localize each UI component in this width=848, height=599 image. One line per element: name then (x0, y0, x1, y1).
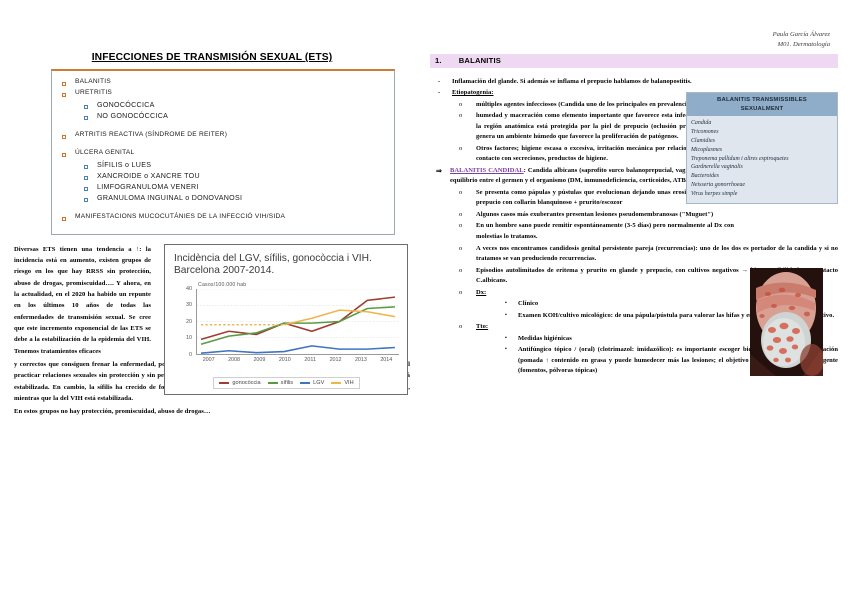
bullet-text: Etiopatogenia: (452, 88, 494, 99)
section-title: BALANITIS (459, 56, 501, 65)
x-tick-label: 2008 (221, 357, 246, 367)
slide-item-label: NO GONOCÓCCICA (97, 112, 168, 121)
slide-item: GONOCÓCCICA (58, 101, 388, 110)
square-bullet-icon (84, 116, 88, 120)
bullet-marker-icon: o (459, 288, 476, 298)
slide-item-label: LIMFOGRANULOMA VENERI (97, 183, 199, 192)
square-bullet-icon (84, 198, 88, 202)
bullet-marker-icon: o (459, 144, 476, 154)
slide-item-label: BALANITIS (75, 78, 111, 86)
chart-title: Incidència del LGV, sífilis, gonocòccia … (174, 253, 401, 278)
y-tick-label: 30 (186, 302, 192, 308)
bullet-marker-icon: ▪ (505, 311, 518, 319)
left-paragraph-last: En estos grupos no hay protección, promi… (14, 406, 410, 417)
table-row: Tricomones (691, 128, 833, 137)
author-name: Paula García Álvarez (430, 30, 830, 40)
y-tick-label: 10 (186, 335, 192, 341)
bullet-item: oAlgunos casos más exuberantes presentan… (430, 210, 838, 221)
course-name: M01. Dermatología (430, 40, 830, 50)
clinical-photo-balanitis (750, 268, 823, 376)
bullet-text: Dx: (476, 288, 486, 299)
slide-item: NO GONOCÓCCICA (58, 112, 388, 121)
legend-label: sífilis (281, 380, 293, 386)
bullet-text: Inflamación del glande. Si además se inf… (452, 77, 692, 88)
x-tick-label: 2009 (247, 357, 272, 367)
square-bullet-icon (84, 105, 88, 109)
x-tick-label: 2010 (272, 357, 297, 367)
bullet-text: A veces nos encontramos candidosis genit… (476, 244, 838, 265)
bullet-marker-icon: o (459, 322, 476, 332)
slide-item: ÚLCERA GENITAL (58, 149, 388, 157)
chart-series-LGV (201, 345, 395, 352)
square-bullet-icon (62, 135, 66, 139)
slide-item-label: ÚLCERA GENITAL (75, 149, 134, 157)
slide-item: XANCROIDE o XANCRE TOU (58, 172, 388, 181)
y-tick-label: 40 (186, 286, 192, 292)
table-title-line1: BALANITIS TRANSMISSIBLES (689, 96, 835, 105)
legend-item: LGV (300, 380, 324, 386)
legend-item: VIH (331, 380, 353, 386)
bullet-keyword: BALANITIS CANDIDAL (450, 167, 524, 174)
chart-plot-area: 010203040 200720082009201020112012201320… (172, 289, 401, 371)
square-bullet-icon (62, 93, 66, 97)
slide-item: BALANITIS (58, 78, 388, 86)
square-bullet-icon (62, 217, 66, 221)
legend-label: LGV (313, 380, 324, 386)
bullet-marker-icon: - (438, 77, 452, 88)
bullet-item: oEn un hombre sano puede remitir espontá… (430, 221, 838, 242)
slide-item-label: SÍFILIS o LUES (97, 161, 151, 170)
table-row: Virus herpes simple (691, 190, 833, 199)
chart-y-axis-label: Casos/100.000 hab (198, 282, 401, 288)
author-header: Paula García Álvarez M01. Dermatología (430, 30, 830, 50)
bullet-marker-icon: ▪ (505, 345, 518, 353)
y-tick-label: 20 (186, 319, 192, 325)
table-row: Bacteroides (691, 172, 833, 181)
left-text-and-chart: Incidència del LGV, sífilis, gonocòccia … (14, 244, 410, 418)
table-row: Gardnerella vaginalis (691, 163, 833, 172)
chart-legend: gonocòcciasífilisLGVVIH (213, 377, 359, 389)
square-bullet-icon (62, 82, 66, 86)
slide-item: MANIFESTACIONS MUCOCUTÁNIES DE LA INFECC… (58, 213, 388, 221)
bullet-marker-icon: o (459, 111, 476, 121)
bullet-text: Algunos casos más exuberantes presentan … (476, 210, 734, 221)
right-column: Paula García Álvarez M01. Dermatología 1… (424, 0, 848, 599)
bullet-text: En un hombre sano puede remitir espontán… (476, 221, 734, 242)
x-tick-label: 2014 (374, 357, 399, 367)
legend-swatch-icon (331, 382, 341, 384)
balanitis-table: BALANITIS TRANSMISSIBLES SEXUALMENT Cand… (686, 92, 838, 204)
chart-lines (196, 289, 399, 355)
legend-label: gonocòccia (232, 380, 260, 386)
slide-item-label: GONOCÓCCICA (97, 101, 155, 110)
chart-series-gonocòccia (201, 297, 395, 339)
table-row: Clamidies (691, 137, 833, 146)
left-column: INFECCIONES DE TRANSMISIÓN SEXUAL (ETS) … (0, 0, 424, 599)
legend-swatch-icon (300, 382, 310, 384)
square-bullet-icon (62, 153, 66, 157)
bullet-item: oA veces nos encontramos candidosis geni… (430, 244, 838, 265)
bullet-item: -Inflamación del glande. Si además se in… (430, 77, 838, 88)
bullet-marker-icon: o (459, 210, 476, 220)
legend-swatch-icon (268, 382, 278, 384)
bullet-marker-icon: - (438, 88, 452, 99)
page-title: INFECCIONES DE TRANSMISIÓN SEXUAL (ETS) (14, 52, 410, 63)
bullet-text: Clínico (518, 299, 538, 310)
square-bullet-icon (84, 165, 88, 169)
bullet-marker-icon: ▪ (505, 299, 518, 307)
square-bullet-icon (84, 187, 88, 191)
bullet-text: Tto: (476, 322, 488, 333)
bullet-marker-icon: ▪ (505, 334, 518, 342)
bullet-marker-icon: o (459, 221, 476, 231)
bullet-marker-icon: o (459, 266, 476, 276)
slide-item: URETRITIS (58, 89, 388, 97)
legend-item: sífilis (268, 380, 293, 386)
balanitis-table-body: CandidaTricomonesClamidiesMicoplasmesTre… (687, 116, 837, 203)
table-row: Treponema pallidum i altres espiroquetes (691, 155, 833, 164)
slide-item-label: GRANULOMA INGUINAL o DONOVANOSI (97, 194, 242, 203)
x-tick-label: 2007 (196, 357, 221, 367)
table-row: Candida (691, 119, 833, 128)
section-number: 1. (435, 56, 442, 65)
bullet-marker-icon: o (459, 244, 476, 254)
slide-item-label: ARTRITIS REACTIVA (SÍNDROME DE REITER) (75, 131, 227, 139)
bullet-text: Medidas higiénicas (518, 334, 572, 345)
table-row: Neisseria gonorrhoeae (691, 181, 833, 190)
slide-item: ARTRITIS REACTIVA (SÍNDROME DE REITER) (58, 131, 388, 139)
legend-swatch-icon (219, 382, 229, 384)
bullet-marker-icon: o (459, 188, 476, 198)
document-page: INFECCIONES DE TRANSMISIÓN SEXUAL (ETS) … (0, 0, 848, 599)
slide-item: GRANULOMA INGUINAL o DONOVANOSI (58, 194, 388, 203)
table-title-line2: SEXUALMENT (689, 105, 835, 114)
x-tick-label: 2012 (323, 357, 348, 367)
slide-item: SÍFILIS o LUES (58, 161, 388, 170)
chart-legend-row: gonocòcciasífilisLGVVIH (172, 371, 401, 389)
slide-item-label: URETRITIS (75, 89, 112, 97)
bullet-marker-icon: ⇒ (436, 166, 450, 177)
section-heading-bar: 1. BALANITIS (430, 54, 838, 68)
slide-item: LIMFOGRANULOMA VENERI (58, 183, 388, 192)
slide-item-label: XANCROIDE o XANCRE TOU (97, 172, 200, 181)
legend-label: VIH (344, 380, 353, 386)
chart-series-sífilis (201, 306, 395, 343)
incidence-chart: Incidència del LGV, sífilis, gonocòccia … (164, 244, 408, 395)
slide-item-label: MANIFESTACIONS MUCOCUTÁNIES DE LA INFECC… (75, 213, 285, 221)
left-paragraph-narrow: Diversas ETS tienen una tendencia a ↑: l… (14, 244, 151, 357)
chart-x-ticks: 20072008200920102011201220132014 (196, 357, 399, 367)
square-bullet-icon (84, 176, 88, 180)
balanitis-table-header: BALANITIS TRANSMISSIBLES SEXUALMENT (687, 93, 837, 116)
x-tick-label: 2013 (348, 357, 373, 367)
legend-item: gonocòccia (219, 380, 260, 386)
slide-outline-box: BALANITISURETRITISGONOCÓCCICANO GONOCÓCC… (51, 69, 395, 235)
y-tick-label: 0 (189, 352, 192, 358)
bullet-marker-icon: o (459, 100, 476, 110)
table-row: Micoplasmes (691, 146, 833, 155)
x-tick-label: 2011 (298, 357, 323, 367)
chart-y-ticks: 010203040 (172, 289, 194, 355)
